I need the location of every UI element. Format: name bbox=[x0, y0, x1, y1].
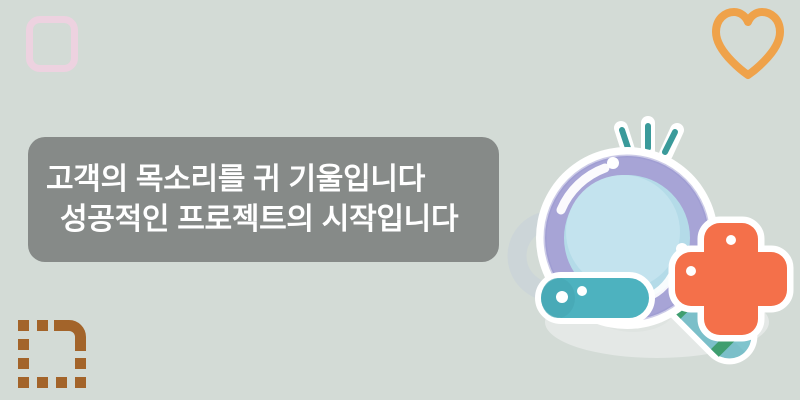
headline-panel: 고객의 목소리를 귀 기울입니다 성공적인 프로젝트의 시작입니다 bbox=[28, 137, 499, 262]
lens-highlight-dot-shape bbox=[607, 157, 619, 169]
magnifying-glass-illustration bbox=[505, 110, 800, 370]
plus-highlight-dot-a bbox=[726, 235, 736, 245]
pink-square-outline-decoration bbox=[26, 16, 78, 72]
lens-glass-inner-shape bbox=[566, 175, 680, 289]
headline-line-2: 성공적인 프로젝트의 시작입니다 bbox=[46, 200, 499, 240]
heart-icon bbox=[708, 6, 788, 80]
promotional-banner: 고객의 목소리를 귀 기울입니다 성공적인 프로젝트의 시작입니다 bbox=[0, 0, 800, 400]
headline-line-1: 고객의 목소리를 귀 기울입니다 bbox=[46, 160, 499, 200]
pill-badge-shape bbox=[541, 278, 649, 318]
plus-highlight-dot-b bbox=[686, 266, 696, 276]
dashed-square-decoration bbox=[14, 306, 96, 394]
pill-highlight-dot-a bbox=[556, 291, 568, 303]
pill-highlight-dot-b bbox=[577, 286, 587, 296]
